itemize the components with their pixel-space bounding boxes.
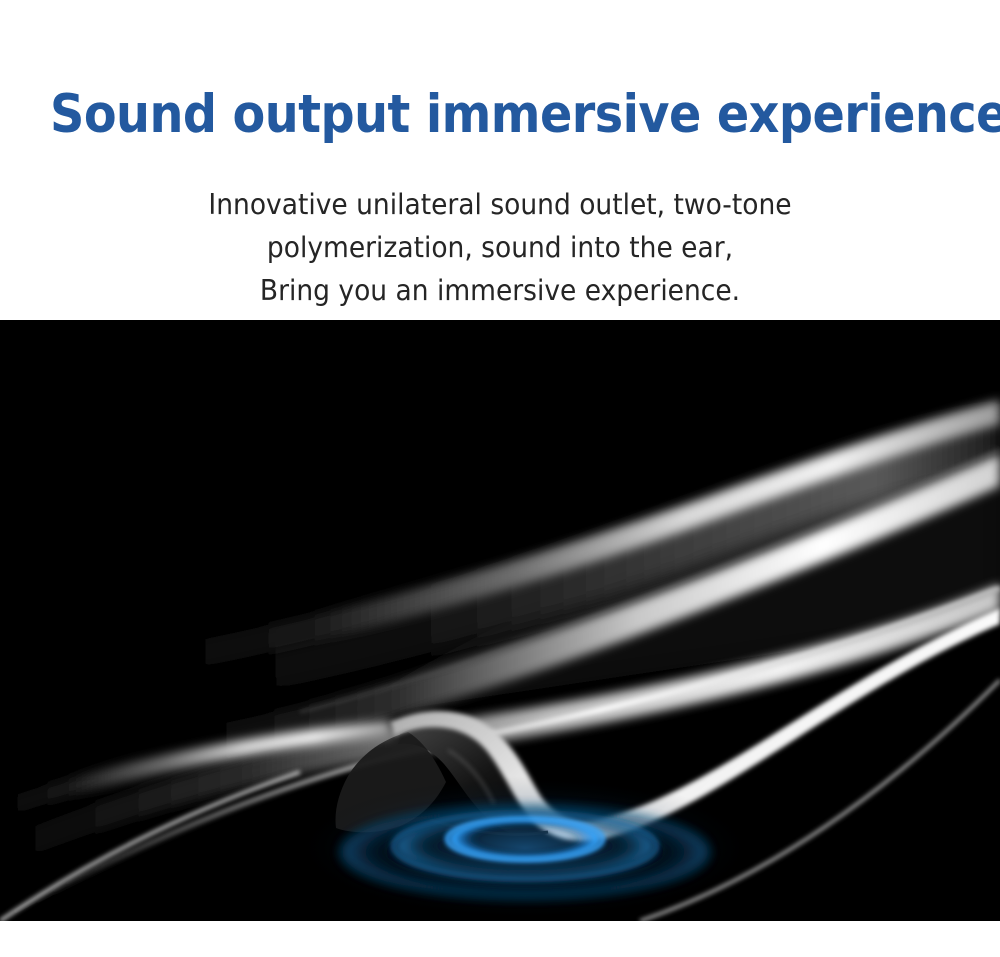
page-title: Sound output immersive experience (50, 84, 950, 146)
sound-ripples (295, 776, 755, 920)
product-detail-page: Sound output immersive experience Innova… (0, 0, 1000, 957)
subtitle-line-1: Innovative unilateral sound outlet, two-… (35, 183, 965, 226)
promo-text-block: Sound output immersive experience Innova… (0, 0, 1000, 320)
earphone-artwork (0, 320, 1000, 921)
subtitle-line-2: polymerization, sound into the ear, (35, 226, 965, 269)
page-subtitle: Innovative unilateral sound outlet, two-… (0, 183, 1000, 312)
footer-whitespace (0, 921, 1000, 957)
hero-product-image (0, 320, 1000, 921)
subtitle-line-3: Bring you an immersive experience. (35, 269, 965, 312)
